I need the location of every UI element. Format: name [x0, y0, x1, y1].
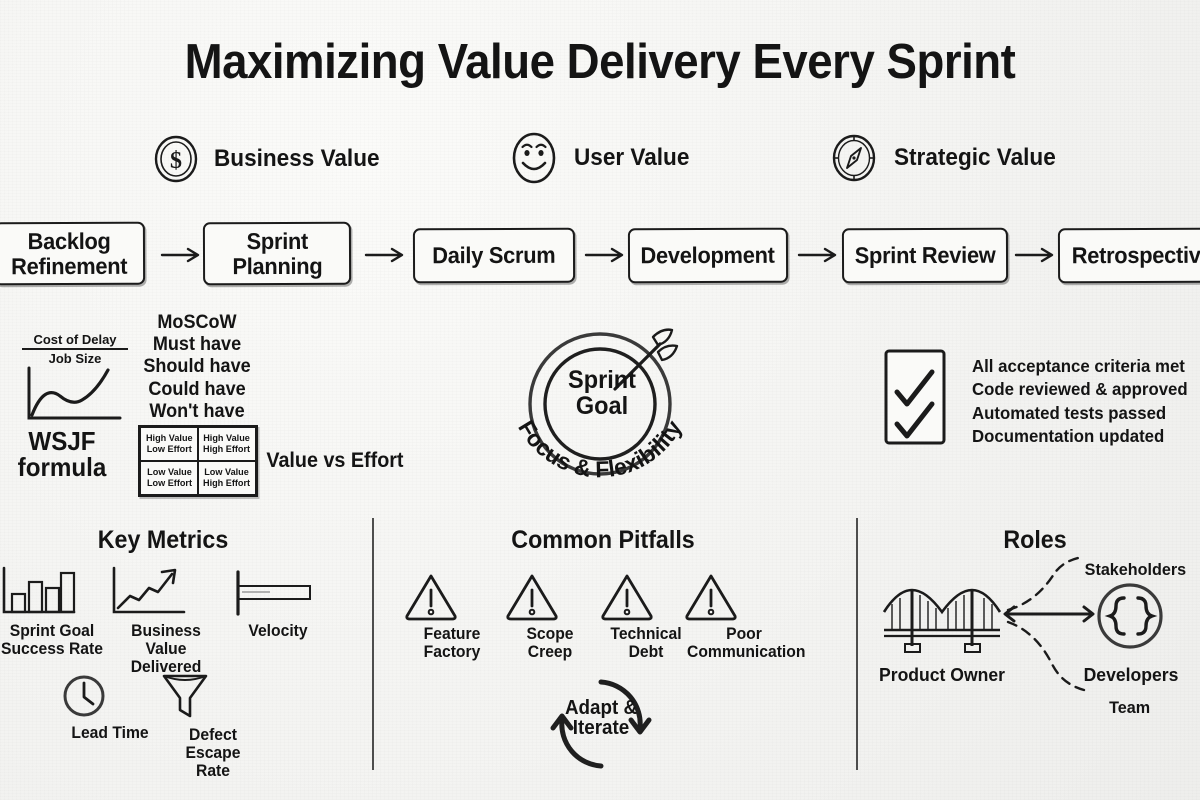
role-stakeholders-label: Stakeholders: [1085, 560, 1186, 580]
moscow-list: MoSCoW Must have Should have Could have …: [141, 312, 253, 423]
pitfall-label: Scope Creep: [507, 625, 593, 662]
metric-label: Lead Time: [63, 724, 158, 742]
page-title: Maximizing Value Delivery Every Sprint: [42, 34, 1158, 90]
key-metrics-title: Key Metrics: [47, 526, 280, 555]
value-type-label: Business Value: [214, 145, 380, 173]
flow-step-line1: Development: [641, 243, 775, 268]
dod-item-documentation: Documentation updated: [972, 425, 1188, 448]
trend-up-chart-icon: [106, 566, 226, 618]
section-divider-right: [856, 518, 858, 770]
pitfall-label: Feature Factory: [406, 625, 497, 662]
flow-step-line1: Retrospective: [1072, 243, 1200, 268]
flow-step-daily-scrum[interactable]: Daily Scrum: [413, 228, 575, 284]
flow-step-sprint-planning[interactable]: Sprint Planning: [203, 222, 351, 286]
pitfall-label: Poor Communication: [687, 625, 801, 662]
pitfall-scope-creep: Scope Creep: [505, 572, 595, 662]
funnel-icon: [158, 668, 268, 722]
right-arrow-icon: [160, 245, 206, 265]
adapt-iterate-label: Adapt & Iterate: [551, 698, 651, 739]
clock-icon: [60, 672, 160, 720]
metric-lead-time: Lead Time: [60, 672, 160, 742]
flow-step-line1: Daily Scrum: [432, 243, 555, 268]
metric-defect-escape-rate: Defect Escape Rate: [158, 668, 268, 780]
value-type-label: User Value: [574, 144, 689, 172]
wsjf-caption: WSJF formula: [12, 428, 112, 480]
smiley-face-icon: [508, 130, 560, 186]
moscow-item-could: Could have: [141, 379, 253, 401]
svg-text:$: $: [170, 148, 182, 174]
dod-item-code-reviewed: Code reviewed & approved: [972, 378, 1188, 401]
matrix-cell-line1: High Value: [204, 433, 251, 444]
pitfall-feature-factory: Feature Factory: [404, 572, 500, 662]
sprint-goal-arc-text: Focus & Flexibility: [498, 388, 702, 498]
metric-velocity: Velocity: [228, 566, 328, 640]
warning-triangle-icon: [684, 572, 804, 622]
bar-chart-icon: [0, 566, 106, 618]
role-product-owner-label: Product Owner: [874, 664, 1011, 686]
matrix-cell-line2: Low Effort: [146, 444, 191, 455]
section-divider-left: [372, 518, 374, 770]
warning-triangle-icon: [505, 572, 595, 622]
dollar-circle-icon: $: [152, 134, 200, 184]
flow-step-sprint-review[interactable]: Sprint Review: [842, 228, 1008, 284]
squiggle-curve-icon: [20, 366, 125, 428]
value-vs-effort-label: Value vs Effort: [266, 449, 403, 473]
bridge-icon: [878, 578, 1006, 654]
adapt-iterate-line2: Iterate: [573, 717, 629, 739]
flow-step-development[interactable]: Development: [628, 228, 788, 284]
roles-title: Roles: [937, 526, 1132, 555]
matrix-cell-high-value-high-effort: High Value High Effort: [198, 427, 256, 461]
matrix-cell-line2: High Effort: [203, 444, 250, 455]
moscow-heading: MoSCoW: [141, 312, 253, 334]
role-team-label: Team: [1109, 698, 1150, 718]
wsjf-fraction: Cost of Delay Job Size: [22, 332, 128, 366]
matrix-cell-low-value-high-effort: Low Value High Effort: [198, 461, 256, 495]
right-arrow-icon: [364, 245, 410, 265]
flow-step-line1: Backlog: [11, 229, 127, 254]
pitfall-poor-communication: Poor Communication: [684, 572, 804, 662]
moscow-item-wont: Won't have: [141, 401, 253, 423]
right-arrow-icon: [797, 245, 843, 265]
wsjf-denominator: Job Size: [22, 350, 128, 366]
svg-text:Focus & Flexibility: Focus & Flexibility: [513, 416, 687, 483]
flow-step-line2: Planning: [232, 253, 322, 278]
infographic-canvas: Maximizing Value Delivery Every Sprint $…: [0, 0, 1200, 800]
matrix-cell-line1: Low Value: [147, 467, 192, 478]
metric-label: Defect Escape Rate: [161, 726, 266, 780]
pitfall-technical-debt: Technical Debt: [600, 572, 692, 662]
flow-step-backlog-refinement[interactable]: Backlog Refinement: [0, 222, 145, 286]
matrix-cell-low-value-low-effort: Low Value Low Effort: [140, 461, 198, 495]
flow-step-line2: Refinement: [11, 253, 127, 278]
wsjf-caption-line2: formula: [18, 452, 107, 482]
definition-of-done-list: All acceptance criteria met Code reviewe…: [972, 355, 1188, 448]
matrix-cell-line1: Low Value: [205, 467, 250, 478]
dod-item-acceptance-criteria: All acceptance criteria met: [972, 355, 1188, 378]
flow-step-line1: Sprint Review: [855, 243, 996, 268]
dod-item-automated-tests: Automated tests passed: [972, 402, 1188, 425]
metric-business-value-delivered: Business Value Delivered: [106, 566, 226, 676]
wsjf-numerator: Cost of Delay: [22, 332, 128, 350]
flow-step-retrospective[interactable]: Retrospective: [1058, 228, 1200, 284]
metric-label: Sprint Goal Success Rate: [1, 622, 104, 658]
metric-label: Velocity: [231, 622, 326, 640]
matrix-cell-line1: High Value: [146, 433, 193, 444]
compass-icon: [828, 131, 880, 185]
value-type-strategic: Strategic Value: [828, 131, 1066, 185]
matrix-cell-line2: High Effort: [203, 478, 250, 489]
adapt-iterate-line1: Adapt &: [565, 697, 637, 719]
checklist-card-icon: [882, 348, 950, 448]
matrix-cell-line2: Low Effort: [146, 478, 191, 489]
right-arrow-icon: [584, 245, 630, 265]
matrix-cell-high-value-low-effort: High Value Low Effort: [140, 427, 198, 461]
horizontal-bar-icon: [228, 566, 328, 618]
warning-triangle-icon: [600, 572, 692, 622]
warning-triangle-icon: [404, 572, 500, 622]
value-effort-matrix: High Value Low Effort High Value High Ef…: [138, 425, 258, 497]
flow-step-line1: Sprint: [232, 229, 322, 254]
value-type-business: $ Business Value: [152, 134, 390, 184]
pitfall-label: Technical Debt: [602, 625, 689, 662]
common-pitfalls-title: Common Pitfalls: [487, 526, 720, 555]
value-type-user: User Value: [508, 130, 697, 186]
moscow-item-should: Should have: [141, 356, 253, 378]
right-arrow-icon: [1014, 245, 1060, 265]
value-type-label: Strategic Value: [894, 144, 1056, 172]
moscow-item-must: Must have: [141, 334, 253, 356]
metric-sprint-goal-success-rate: Sprint Goal Success Rate: [0, 566, 106, 658]
